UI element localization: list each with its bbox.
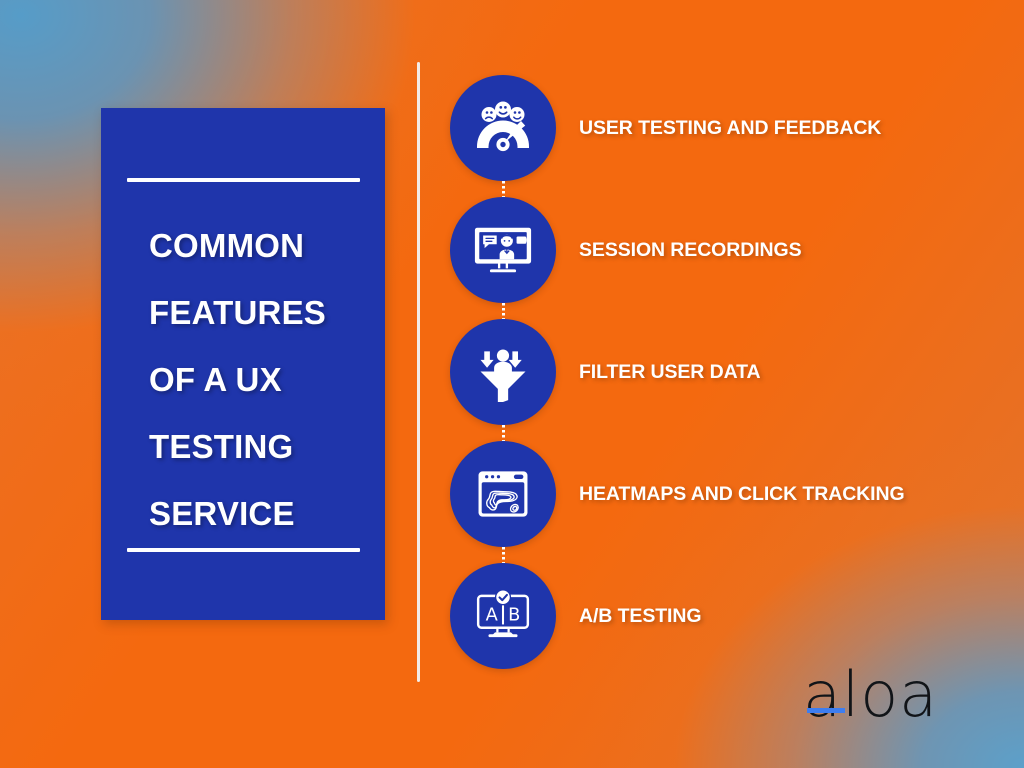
browser-heatmap-icon — [474, 465, 532, 523]
title-line-3: OF A UX — [149, 346, 379, 413]
satisfaction-gauge-icon — [471, 96, 535, 160]
connector-dotted — [502, 181, 505, 197]
aloa-logo: aloa — [803, 664, 943, 724]
feature-badge-2 — [450, 197, 556, 303]
monitor-video-person-icon — [472, 219, 534, 281]
user-funnel-icon — [473, 342, 533, 402]
title-rule-bottom — [127, 548, 360, 552]
feature-label: SESSION RECORDINGS — [579, 239, 802, 262]
feature-label: USER TESTING AND FEEDBACK — [579, 117, 881, 140]
ab-test-monitor-icon: A B — [473, 586, 533, 646]
title-card: COMMON FEATURES OF A UX TESTING SERVICE — [101, 108, 385, 620]
title-line-1: COMMON — [149, 212, 379, 279]
title-line-5: SERVICE — [149, 480, 379, 547]
logo-wordmark: aloa — [803, 664, 943, 726]
vertical-divider — [417, 62, 420, 682]
logo-underline — [807, 708, 845, 713]
slide-canvas: COMMON FEATURES OF A UX TESTING SERVICE — [0, 0, 1024, 768]
page-title: COMMON FEATURES OF A UX TESTING SERVICE — [149, 212, 379, 547]
svg-text:B: B — [508, 605, 520, 626]
title-line-2: FEATURES — [149, 279, 379, 346]
list-item[interactable]: HEATMAPS AND CLICK TRACKING — [450, 441, 1010, 563]
list-item[interactable]: USER TESTING AND FEEDBACK — [450, 75, 1010, 197]
connector-dotted — [502, 547, 505, 563]
feature-badge-5: A B — [450, 563, 556, 669]
feature-badge-1 — [450, 75, 556, 181]
title-line-4: TESTING — [149, 413, 379, 480]
connector-dotted — [502, 425, 505, 441]
list-item[interactable]: FILTER USER DATA — [450, 319, 1010, 441]
connector-dotted — [502, 303, 505, 319]
feature-badge-4 — [450, 441, 556, 547]
feature-label: FILTER USER DATA — [579, 361, 760, 384]
feature-badge-3 — [450, 319, 556, 425]
list-item[interactable]: SESSION RECORDINGS — [450, 197, 1010, 319]
title-rule-top — [127, 178, 360, 182]
feature-label: HEATMAPS AND CLICK TRACKING — [579, 483, 905, 506]
svg-text:A: A — [486, 605, 499, 626]
feature-label: A/B TESTING — [579, 605, 701, 628]
feature-list: USER TESTING AND FEEDBACK — [450, 75, 1010, 685]
